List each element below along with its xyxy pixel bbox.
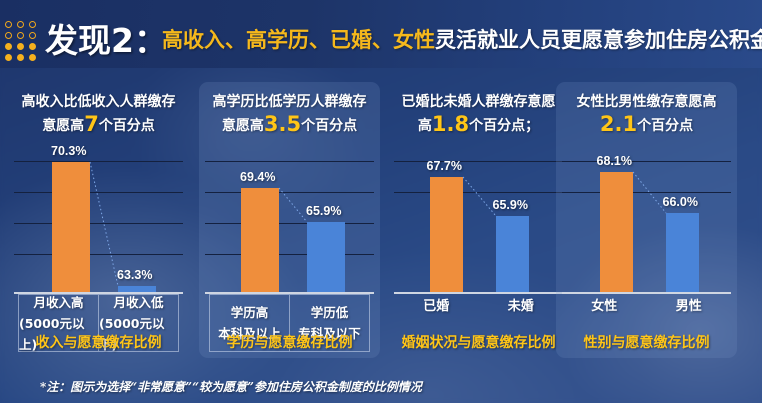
bar-value-label: 65.9% (306, 204, 341, 218)
card-title-value: 1.8 (432, 112, 469, 136)
bar-primary (430, 177, 463, 292)
gridline (562, 192, 731, 193)
legend-category: 月收入低 (113, 292, 163, 313)
gridline (14, 192, 183, 193)
gridline (205, 254, 374, 255)
bar-value-label: 70.3% (51, 144, 86, 158)
bar-secondary (307, 222, 345, 292)
bar-value-label: 65.9% (493, 198, 528, 212)
gridline (14, 254, 183, 255)
gridline (205, 192, 374, 193)
bar-value-label: 66.0% (663, 195, 698, 209)
category-label: 未婚 (479, 295, 564, 314)
card-title-suffix: 个百分点； (469, 118, 539, 134)
axis-baseline (562, 292, 731, 294)
chart-card-education: 高学历比低学历人群缴存意愿高3.5个百分点69.4%65.9%学历高本科及以上学… (199, 82, 380, 358)
card-title-prefix: 女性比男性缴存意愿高 (577, 94, 717, 110)
gridline (562, 161, 731, 162)
category-labels: 女性男性 (562, 295, 731, 314)
bar-value-label: 69.4% (240, 170, 275, 184)
dot-grid-icon (5, 21, 39, 63)
card-title-value: 7 (84, 112, 99, 136)
page-subtitle: 高收入、高学历、已婚、女性灵活就业人员更愿意参加住房公积金制度 (162, 24, 762, 54)
gridline (394, 161, 563, 162)
card-caption: 收入与愿意缴存比例 (8, 332, 189, 352)
category-labels: 已婚未婚 (394, 295, 563, 314)
footnote-text: *注：图示为选择“非常愿意”“较为愿意”参加住房公积金制度的比例情况 (40, 378, 422, 395)
trend-connector-line (556, 154, 737, 296)
chart-card-income: 高收入比低收入人群缴存意愿高7个百分点70.3%63.3%月收入高(5000元以… (8, 82, 189, 358)
bar-value-label: 67.7% (427, 159, 462, 173)
bar-value-label: 63.3% (117, 268, 152, 282)
gridline (14, 223, 183, 224)
bar-primary (52, 162, 90, 292)
bar-chart-plot: 70.3%63.3% (8, 154, 189, 292)
trend-connector-line (388, 154, 569, 296)
trend-connector-line (8, 154, 189, 296)
card-caption: 性别与愿意缴存比例 (556, 332, 737, 352)
axis-baseline (394, 292, 563, 294)
legend-category: 学历高 (231, 302, 269, 323)
card-title-value: 3.5 (264, 112, 301, 136)
bar-secondary (496, 216, 529, 292)
slide-header: 发现2： 高收入、高学历、已婚、女性灵活就业人员更愿意参加住房公积金制度 (0, 0, 762, 68)
bar-chart-plot: 67.7%65.9% (388, 154, 569, 292)
category-label: 男性 (647, 295, 732, 314)
bar-secondary (666, 213, 699, 292)
gridline (14, 161, 183, 162)
bar-value-label: 68.1% (597, 154, 632, 168)
subtitle-rest: 灵活就业人员更愿意参加住房公积金制度 (435, 28, 762, 52)
card-title-value: 2.1 (600, 112, 637, 136)
card-title: 女性比男性缴存意愿高2.1个百分点 (563, 91, 730, 137)
card-title-suffix: 个百分点 (99, 118, 155, 134)
legend-category: 学历低 (311, 302, 349, 323)
gridline (394, 192, 563, 193)
category-label: 女性 (562, 295, 647, 314)
gridline (205, 161, 374, 162)
page-title: 发现2： (45, 14, 167, 62)
bar-chart-plot: 69.4%65.9% (199, 154, 380, 292)
bar-primary (600, 172, 633, 292)
bar-primary (241, 188, 279, 292)
card-title: 已婚比未婚人群缴存意愿高1.8个百分点； (395, 91, 562, 137)
chart-card-marital: 已婚比未婚人群缴存意愿高1.8个百分点；67.7%65.9%已婚未婚婚姻状况与愿… (388, 82, 569, 358)
chart-card-gender: 女性比男性缴存意愿高2.1个百分点68.1%66.0%女性男性性别与愿意缴存比例 (556, 82, 737, 358)
card-title: 高收入比低收入人群缴存意愿高7个百分点 (15, 91, 182, 137)
card-title-suffix: 个百分点 (637, 118, 693, 134)
subtitle-highlight: 高收入、高学历、已婚、女性 (162, 28, 435, 52)
card-caption: 学历与愿意缴存比例 (199, 332, 380, 352)
gridline (205, 223, 374, 224)
trend-connector-line (199, 154, 380, 296)
card-caption: 婚姻状况与愿意缴存比例 (388, 332, 569, 352)
card-title-suffix: 个百分点 (301, 118, 357, 134)
legend-category: 月收入高 (33, 292, 83, 313)
card-title: 高学历比低学历人群缴存意愿高3.5个百分点 (206, 91, 373, 137)
bar-chart-plot: 68.1%66.0% (556, 154, 737, 292)
category-label: 已婚 (394, 295, 479, 314)
